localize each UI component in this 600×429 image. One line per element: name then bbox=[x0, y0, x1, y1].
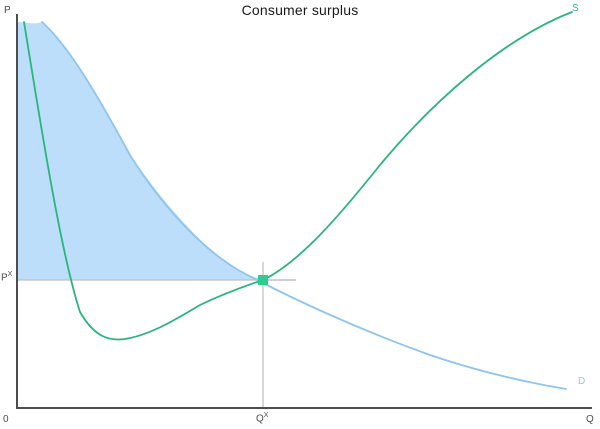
equilibrium-point-marker bbox=[258, 275, 268, 285]
equilibrium-quantity-label: QX bbox=[256, 412, 268, 424]
equilibrium-price-base: P bbox=[1, 272, 8, 283]
consumer-surplus-chart: Consumer surplus P Q 0 PX QX S D bbox=[0, 0, 600, 429]
demand-curve-label: D bbox=[578, 376, 585, 387]
equilibrium-price-label: PX bbox=[1, 271, 12, 283]
equilibrium-price-superscript: X bbox=[8, 271, 13, 278]
plot-area bbox=[0, 0, 600, 429]
equilibrium-quantity-superscript: X bbox=[264, 412, 269, 419]
equilibrium-quantity-base: Q bbox=[256, 413, 264, 424]
x-axis-label: Q bbox=[586, 414, 594, 425]
origin-label: 0 bbox=[3, 414, 9, 425]
supply-curve-label: S bbox=[572, 3, 579, 14]
consumer-surplus-region bbox=[17, 22, 263, 280]
y-axis-label: P bbox=[4, 5, 11, 16]
